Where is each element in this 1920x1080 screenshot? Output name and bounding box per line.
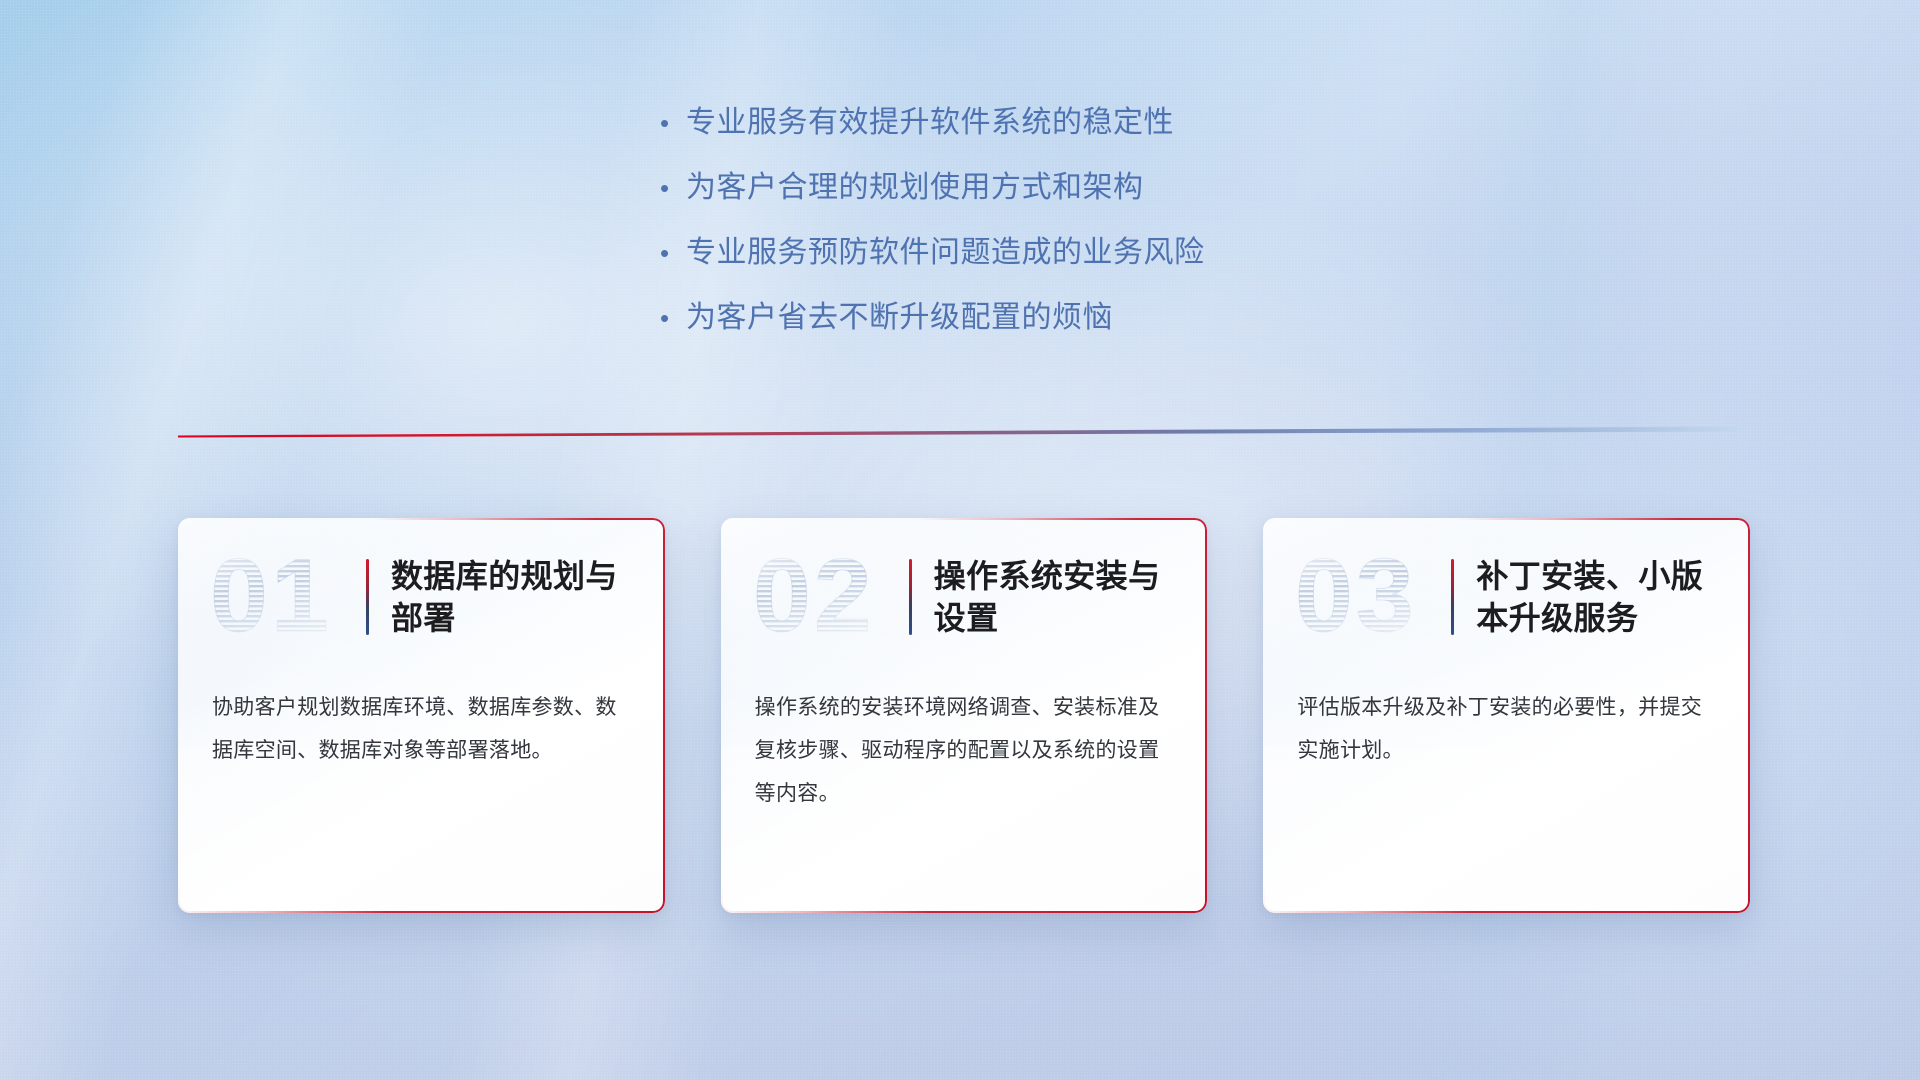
svg-text:02: 02 bbox=[753, 545, 875, 649]
bullet-text: 为客户省去不断升级配置的烦恼 bbox=[686, 300, 1113, 336]
striped-number-icon: 03 03 bbox=[1293, 545, 1445, 649]
bullet-point-icon: • bbox=[660, 305, 686, 331]
card-number-graphic: 02 02 bbox=[751, 545, 903, 649]
striped-number-icon: 02 02 bbox=[751, 545, 903, 649]
card-header: 02 02 操作系统安装与设置 bbox=[721, 518, 1208, 648]
bullet-text: 专业服务有效提升软件系统的稳定性 bbox=[686, 105, 1174, 141]
slide-canvas: • 专业服务有效提升软件系统的稳定性 • 为客户合理的规划使用方式和架构 • 专… bbox=[0, 0, 1920, 1080]
list-item: • 专业服务有效提升软件系统的稳定性 bbox=[660, 105, 1560, 141]
striped-number-icon: 01 01 bbox=[208, 545, 360, 649]
card-title: 补丁安装、小版本升级服务 bbox=[1476, 555, 1720, 639]
card-header: 01 01 数据库的规划与部署 bbox=[178, 518, 665, 648]
bullet-point-icon: • bbox=[660, 240, 686, 266]
bullet-text: 为客户合理的规划使用方式和架构 bbox=[686, 170, 1144, 206]
service-card[interactable]: 01 01 数据库的规划与部署 协助客户规划数据库环境、数据库参数、数据库空间、… bbox=[178, 518, 665, 913]
card-title-accent-rule bbox=[366, 559, 369, 635]
service-card[interactable]: 03 03 补丁安装、小版本升级服务 评估版本升级及补丁安装的必要性，并提交实施… bbox=[1263, 518, 1750, 913]
service-card-grid: 01 01 数据库的规划与部署 协助客户规划数据库环境、数据库参数、数据库空间、… bbox=[178, 518, 1750, 913]
card-description: 评估版本升级及补丁安装的必要性，并提交实施计划。 bbox=[1263, 648, 1750, 772]
card-description: 协助客户规划数据库环境、数据库参数、数据库空间、数据库对象等部署落地。 bbox=[178, 648, 665, 772]
card-number-graphic: 03 03 bbox=[1293, 545, 1445, 649]
bullet-text: 专业服务预防软件问题造成的业务风险 bbox=[686, 235, 1205, 271]
list-item: • 专业服务预防软件问题造成的业务风险 bbox=[660, 235, 1560, 271]
bullet-point-icon: • bbox=[660, 175, 686, 201]
card-description: 操作系统的安装环境网络调查、安装标准及复核步骤、驱动程序的配置以及系统的设置等内… bbox=[721, 648, 1208, 815]
service-card[interactable]: 02 02 操作系统安装与设置 操作系统的安装环境网络调查、安装标准及复核步骤、… bbox=[721, 518, 1208, 913]
card-title: 操作系统安装与设置 bbox=[934, 555, 1178, 639]
divider-shape-icon bbox=[178, 424, 1738, 442]
card-number-graphic: 01 01 bbox=[208, 545, 360, 649]
section-divider bbox=[178, 424, 1738, 442]
svg-text:03: 03 bbox=[1295, 545, 1417, 649]
card-title-accent-rule bbox=[1451, 559, 1454, 635]
svg-text:01: 01 bbox=[210, 545, 332, 649]
card-header: 03 03 补丁安装、小版本升级服务 bbox=[1263, 518, 1750, 648]
card-title-accent-rule bbox=[909, 559, 912, 635]
benefits-bullet-list: • 专业服务有效提升软件系统的稳定性 • 为客户合理的规划使用方式和架构 • 专… bbox=[660, 105, 1560, 365]
bullet-point-icon: • bbox=[660, 110, 686, 136]
card-title: 数据库的规划与部署 bbox=[391, 555, 635, 639]
list-item: • 为客户合理的规划使用方式和架构 bbox=[660, 170, 1560, 206]
list-item: • 为客户省去不断升级配置的烦恼 bbox=[660, 300, 1560, 336]
